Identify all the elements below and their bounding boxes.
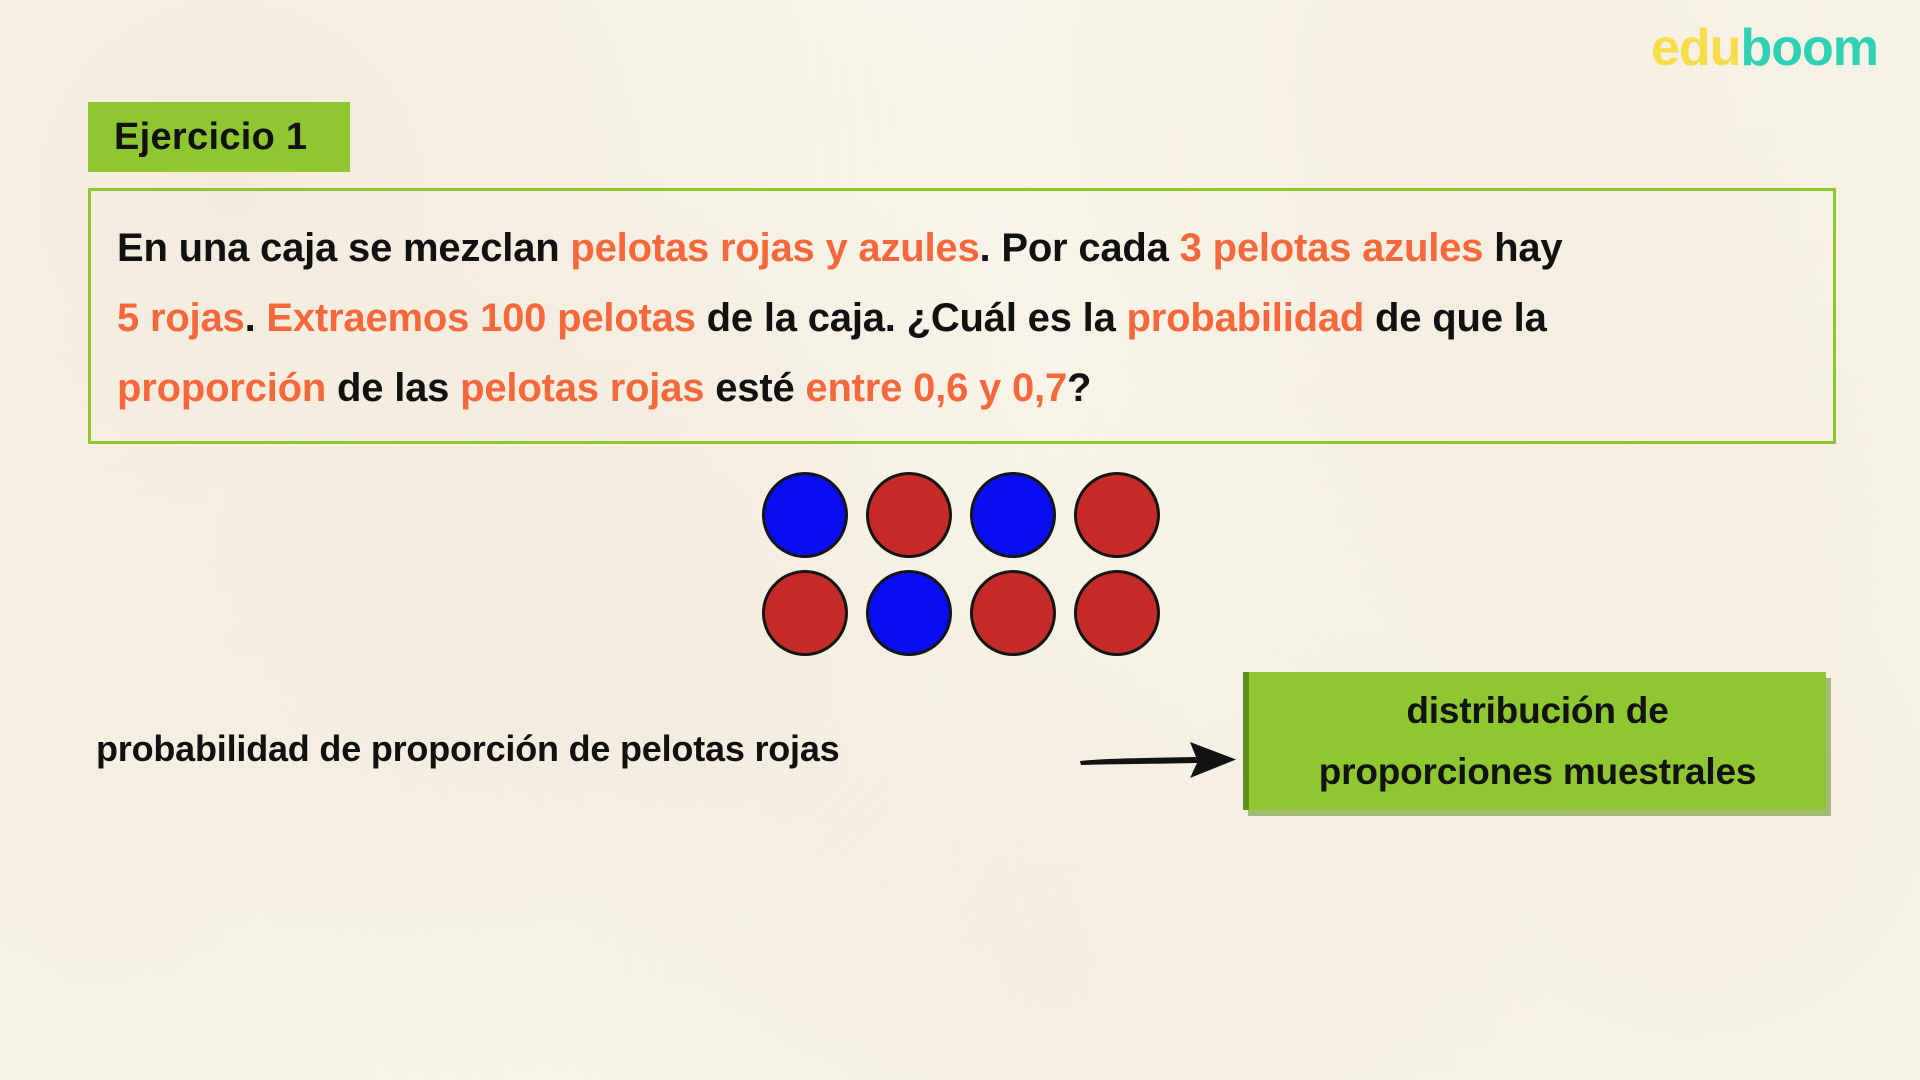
eduboom-logo: eduboom bbox=[1651, 22, 1878, 74]
result-line-2: proporciones muestrales bbox=[1319, 741, 1757, 802]
ball-red bbox=[1074, 472, 1160, 558]
balls-illustration bbox=[762, 472, 1160, 656]
question-segment-2-4: de la caja. ¿Cuál es la bbox=[696, 296, 1127, 340]
result-box: distribución de proporciones muestrales bbox=[1243, 672, 1826, 810]
question-segment-3-6: ? bbox=[1067, 366, 1091, 410]
question-segment-2-3: Extraemos 100 pelotas bbox=[266, 296, 695, 340]
question-segment-2-6: de que la bbox=[1364, 296, 1547, 340]
question-segment-1-4: 3 pelotas azules bbox=[1180, 226, 1484, 270]
question-segment-3-5: entre 0,6 y 0,7 bbox=[805, 366, 1067, 410]
ball-blue bbox=[866, 570, 952, 656]
exercise-badge-label: Ejercicio 1 bbox=[114, 116, 307, 159]
question-segment-1-5: hay bbox=[1483, 226, 1562, 270]
question-segment-2-1: 5 rojas bbox=[117, 296, 245, 340]
logo-text-boom: boom bbox=[1740, 19, 1878, 77]
question-line-1: En una caja se mezclan pelotas rojas y a… bbox=[117, 213, 1807, 283]
question-segment-1-3: . Por cada bbox=[980, 226, 1180, 270]
question-segment-3-2: de las bbox=[326, 366, 460, 410]
question-segment-1-2: pelotas rojas y azules bbox=[570, 226, 979, 270]
ball-blue bbox=[762, 472, 848, 558]
question-segment-3-1: proporción bbox=[117, 366, 326, 410]
ball-red bbox=[970, 570, 1056, 656]
question-segment-3-3: pelotas rojas bbox=[460, 366, 704, 410]
exercise-badge: Ejercicio 1 bbox=[88, 102, 350, 172]
question-segment-1-1: En una caja se mezclan bbox=[117, 226, 570, 270]
question-statement-box: En una caja se mezclan pelotas rojas y a… bbox=[88, 188, 1836, 444]
question-segment-2-5: probabilidad bbox=[1127, 296, 1365, 340]
relation-label: probabilidad de proporción de pelotas ro… bbox=[96, 728, 840, 770]
question-segment-3-4: esté bbox=[704, 366, 805, 410]
question-line-2: 5 rojas. Extraemos 100 pelotas de la caj… bbox=[117, 283, 1807, 353]
ball-blue bbox=[970, 472, 1056, 558]
ball-red bbox=[1074, 570, 1160, 656]
question-line-3: proporción de las pelotas rojas esté ent… bbox=[117, 353, 1807, 423]
question-segment-2-2: . bbox=[245, 296, 267, 340]
ball-red bbox=[762, 570, 848, 656]
ball-red bbox=[866, 472, 952, 558]
result-line-1: distribución de bbox=[1406, 680, 1668, 741]
arrow-right-icon bbox=[1078, 736, 1238, 784]
logo-text-edu: edu bbox=[1651, 19, 1740, 77]
